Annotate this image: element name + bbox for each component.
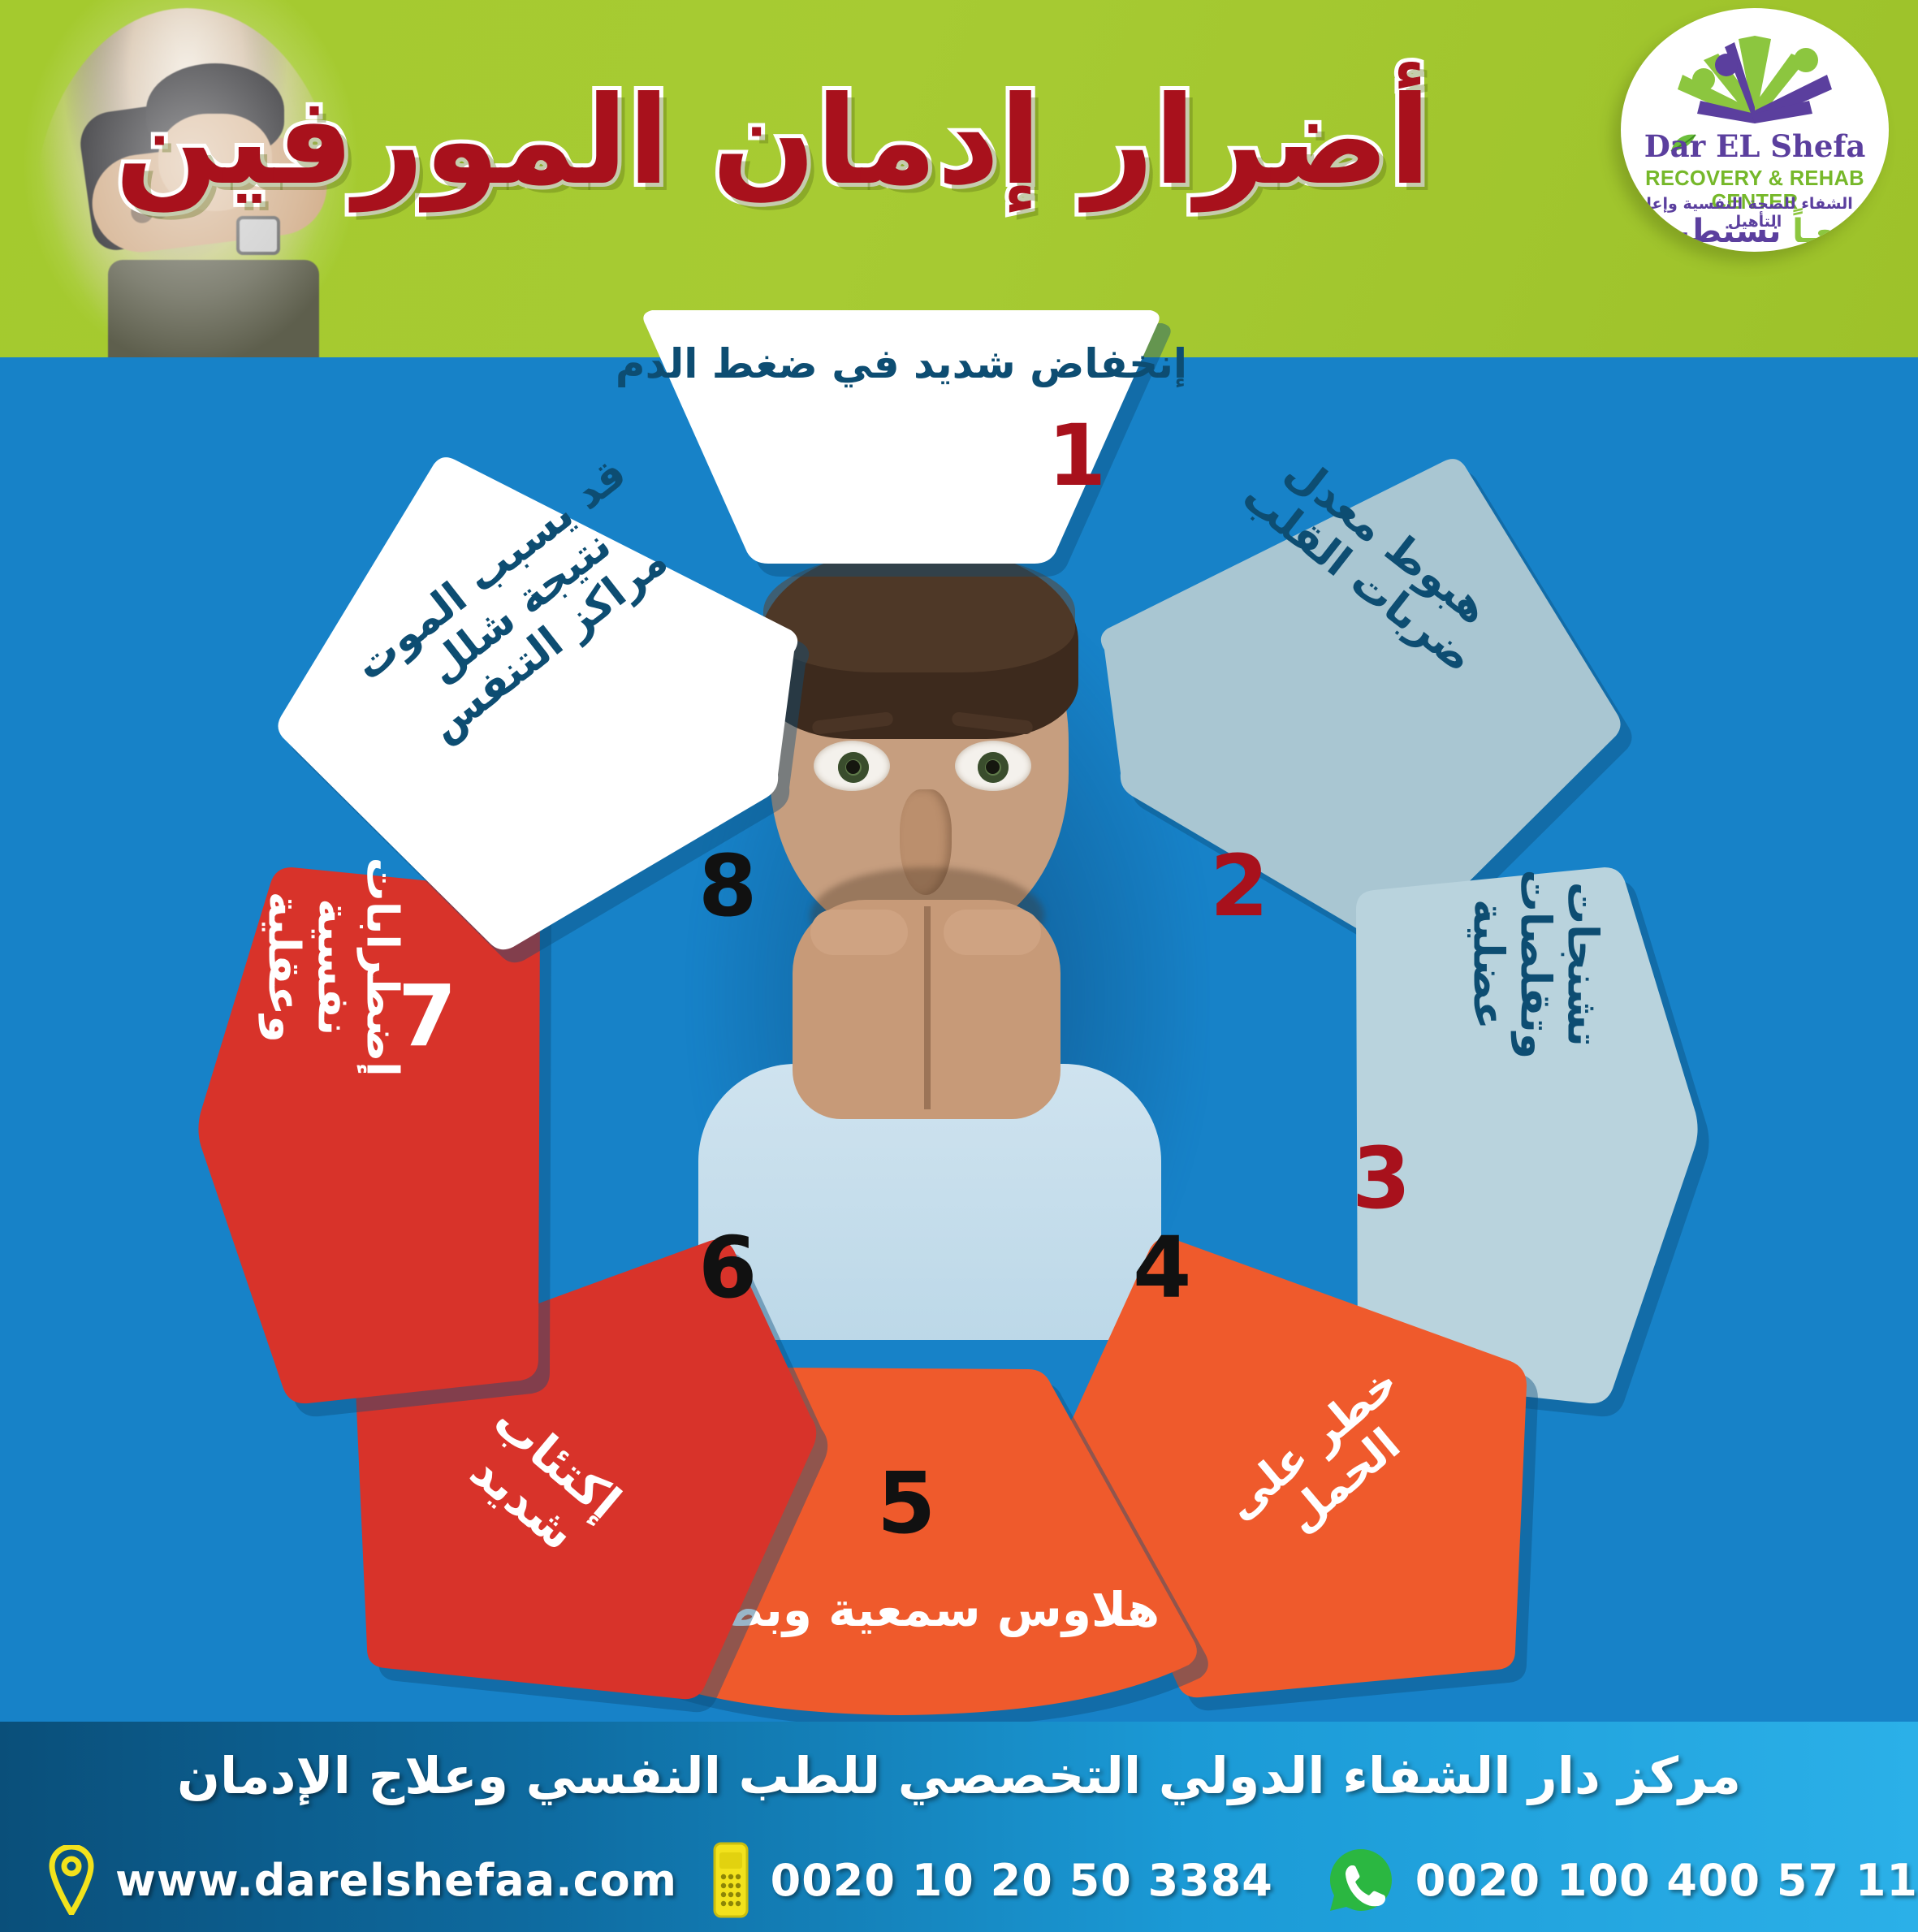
whatsapp-item[interactable]: 0020 100 400 57 11 [1328, 1847, 1918, 1913]
logo-people-star-icon [1621, 32, 1889, 130]
website-item[interactable]: www.darelshefaa.com [49, 1845, 677, 1915]
website-text[interactable]: www.darelshefaa.com [115, 1855, 677, 1906]
center-photo-pupil-left [846, 760, 860, 774]
mobile-phone-icon [712, 1841, 749, 1919]
contact-row: www.darelshefaa.com 0020 10 20 50 3384 [0, 1835, 1918, 1925]
whatsapp-icon [1328, 1847, 1394, 1913]
header-photo-watch [236, 216, 280, 255]
header-photo-pants [108, 260, 319, 357]
wheel-segment-5-number: 5 [877, 1454, 935, 1553]
whatsapp-text[interactable]: 0020 100 400 57 11 [1415, 1855, 1918, 1906]
location-pin-icon [49, 1845, 94, 1915]
wheel-segment-4-number: 4 [1133, 1218, 1191, 1317]
center-photo-knuckles-right [944, 910, 1041, 955]
phone-text[interactable]: 0020 10 20 50 3384 [771, 1855, 1273, 1906]
center-photo-knuckles-left [810, 910, 908, 955]
logo-slogan-rest: نستطيع [1656, 213, 1782, 250]
header-band: أضرار إدمان المورفين [0, 0, 1918, 357]
infographic-poster: أضرار إدمان المورفين [0, 0, 1918, 1932]
logo-slogan: معـاً نستطيع [1621, 213, 1889, 250]
wheel-segment-1-label: إنخفاض شديد في ضغط الدم [585, 341, 1218, 387]
wheel-segment-6-number: 6 [698, 1218, 757, 1317]
footer-bar: مركز دار الشفاء الدولي التخصصي للطب النف… [0, 1722, 1918, 1932]
wheel-segment-8-number: 8 [698, 836, 757, 936]
center-photo-hand-split [924, 906, 931, 1109]
logo-slogan-highlight: معـاً [1792, 213, 1854, 250]
logo-name: Dar EL Shefa [1621, 128, 1889, 164]
wheel-segment-3-label: تشنجات وتقلصات عضلية [1464, 802, 1606, 1126]
center-photo-pupil-right [986, 760, 1000, 774]
page-title: أضرار إدمان المورفين [456, 78, 1431, 206]
wheel-stage: إنخفاض شديد في ضغط الدم 1 هبوط معدل ضربا… [0, 357, 1918, 1722]
phone-item[interactable]: 0020 10 20 50 3384 [712, 1841, 1273, 1919]
wheel-segment-2-number: 2 [1210, 836, 1268, 936]
footer-center-name: مركز دار الشفاء الدولي التخصصي للطب النف… [0, 1746, 1918, 1805]
brand-logo: Dar EL Shefa RECOVERY & REHAB CENTER دار… [1621, 8, 1889, 252]
